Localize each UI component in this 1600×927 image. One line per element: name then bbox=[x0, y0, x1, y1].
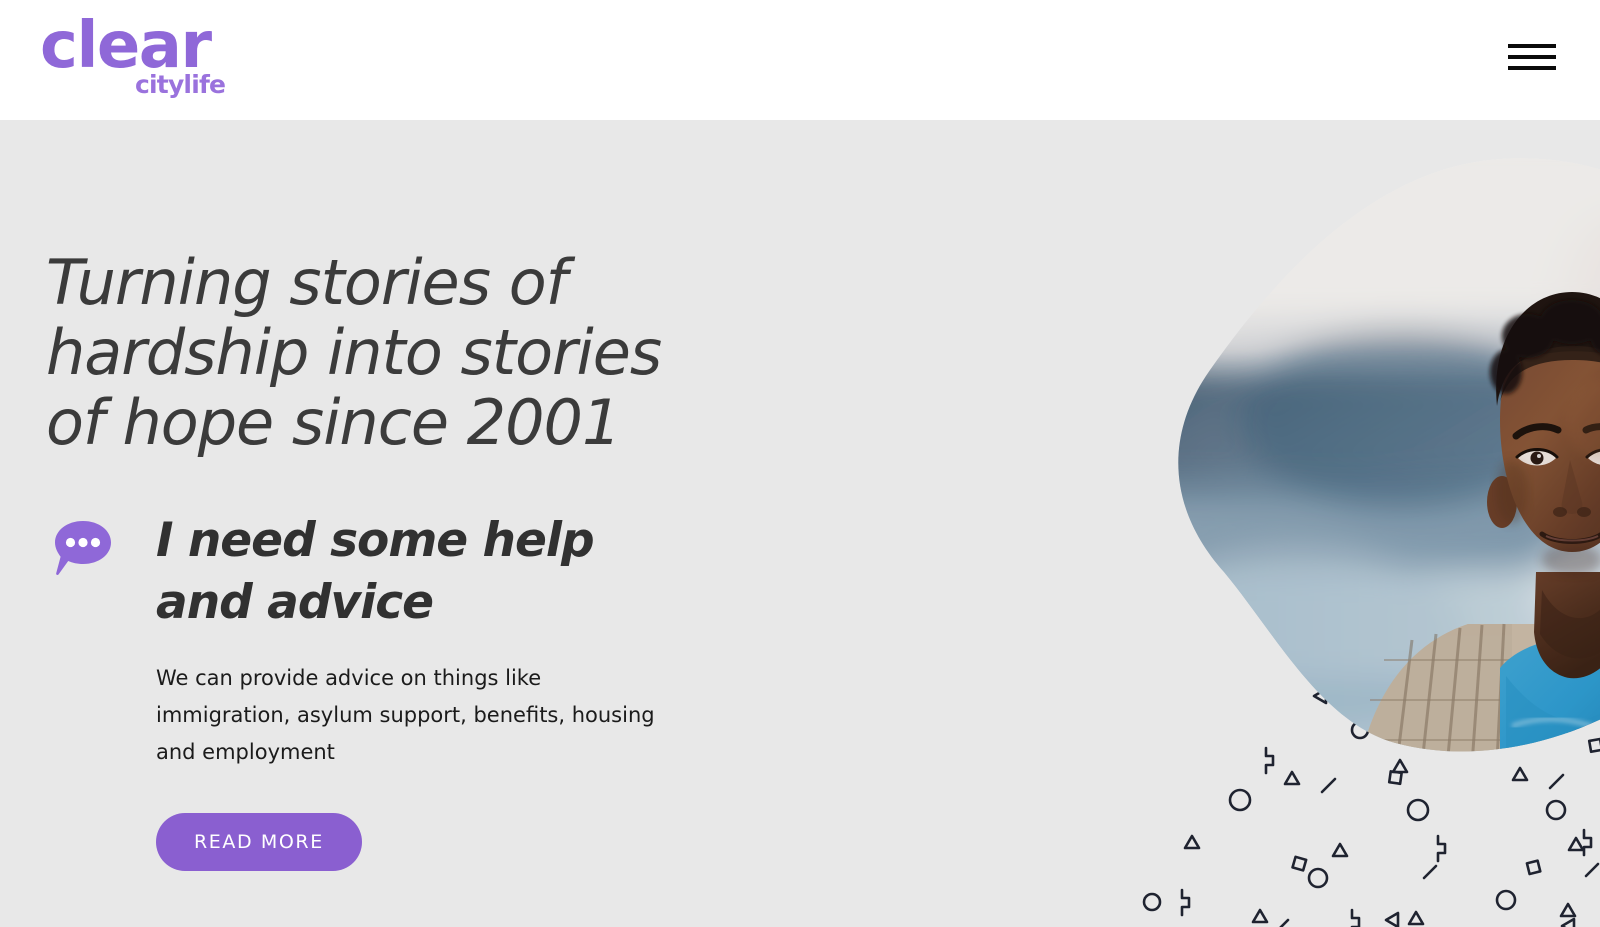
read-more-button[interactable]: READ MORE bbox=[156, 813, 362, 871]
hero-title: Turning stories of hardship into stories… bbox=[46, 248, 666, 458]
help-card-body: We can provide advice on things like imm… bbox=[156, 660, 666, 771]
logo-subwordmark: citylife bbox=[135, 72, 225, 97]
hero-photo bbox=[700, 120, 1600, 927]
hero-section: Turning stories of hardship into stories… bbox=[0, 120, 1600, 927]
hamburger-icon-bar-middle bbox=[1508, 55, 1556, 59]
help-card: I need some help and advice bbox=[46, 510, 726, 634]
speech-bubble-icon bbox=[52, 517, 114, 579]
hamburger-menu-button[interactable] bbox=[1506, 38, 1558, 78]
hamburger-icon-bar-top bbox=[1508, 44, 1556, 48]
hero-copy-column: Turning stories of hardship into stories… bbox=[46, 248, 726, 871]
page-root: clear citylife Turning stories of hardsh… bbox=[0, 0, 1600, 927]
help-card-heading: I need some help and advice bbox=[156, 510, 686, 634]
logo-wordmark: clear bbox=[40, 14, 211, 78]
site-logo[interactable]: clear citylife bbox=[40, 10, 300, 110]
hamburger-icon-bar-bottom bbox=[1508, 66, 1556, 70]
hero-media-column bbox=[700, 120, 1600, 927]
site-header: clear citylife bbox=[0, 0, 1600, 120]
